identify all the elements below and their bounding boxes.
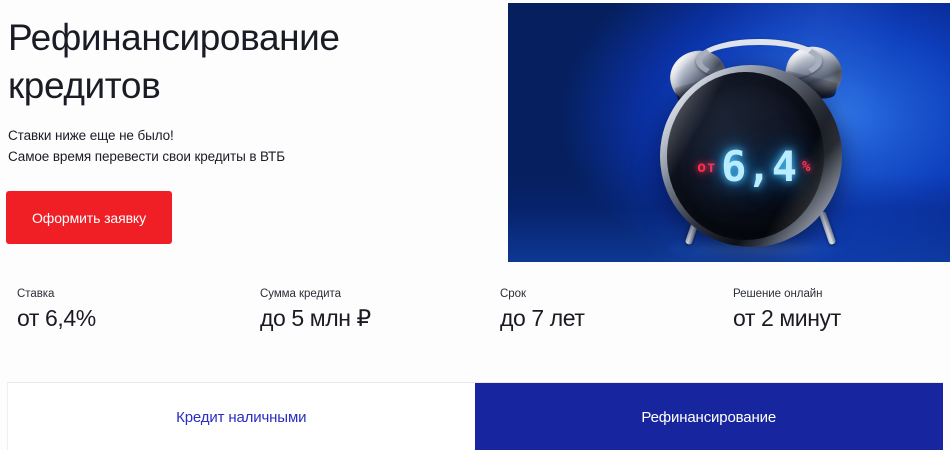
stat-term-label: Срок xyxy=(500,288,585,300)
stat-rate: Ставка от 6,4% xyxy=(17,288,96,332)
stat-rate-label: Ставка xyxy=(17,288,96,300)
refinancing-landing-page: Рефинансирование кредитов Ставки ниже ещ… xyxy=(0,0,950,450)
apply-button[interactable]: Оформить заявку xyxy=(6,191,172,244)
clock-face: от 6,4 % xyxy=(667,72,824,240)
stat-decision-label: Решение онлайн xyxy=(733,288,841,300)
alarm-clock-icon: от 6,4 % xyxy=(658,39,864,245)
hero-subtitle-line-2: Самое время перевести свои кредиты в ВТБ xyxy=(8,147,498,168)
stats-row: Ставка от 6,4% Сумма кредита до 5 млн ₽ … xyxy=(0,288,950,346)
clock-case: от 6,4 % xyxy=(660,65,842,247)
page-title: Рефинансирование кредитов xyxy=(8,14,498,109)
stat-amount-value: до 5 млн ₽ xyxy=(260,305,371,332)
hero-banner-image: от 6,4 % xyxy=(508,3,950,262)
stat-decision: Решение онлайн от 2 минут xyxy=(733,288,841,332)
stat-term-value: до 7 лет xyxy=(500,305,585,332)
hero-subtitle-line-1: Ставки ниже еще не было! xyxy=(8,126,498,147)
stat-term: Срок до 7 лет xyxy=(500,288,585,332)
led-prefix-text: от xyxy=(697,158,716,176)
tab-refinancing[interactable]: Рефинансирование xyxy=(475,383,944,450)
stat-decision-value: от 2 минут xyxy=(733,305,841,332)
clock-led-display: от 6,4 % xyxy=(679,134,829,200)
product-tabs: Кредит наличными Рефинансирование xyxy=(7,382,943,450)
stat-amount-label: Сумма кредита xyxy=(260,288,371,300)
tab-cash-loan[interactable]: Кредит наличными xyxy=(8,383,475,450)
led-percent-sign: % xyxy=(802,159,811,175)
clock-leg-right xyxy=(819,211,837,245)
stat-amount: Сумма кредита до 5 млн ₽ xyxy=(260,288,371,332)
hero-subtitle: Ставки ниже еще не было! Самое время пер… xyxy=(8,126,498,167)
stat-rate-value: от 6,4% xyxy=(17,305,96,332)
hero-text-block: Рефинансирование кредитов Ставки ниже ещ… xyxy=(8,14,498,167)
led-rate-value: 6,4 xyxy=(721,146,797,188)
